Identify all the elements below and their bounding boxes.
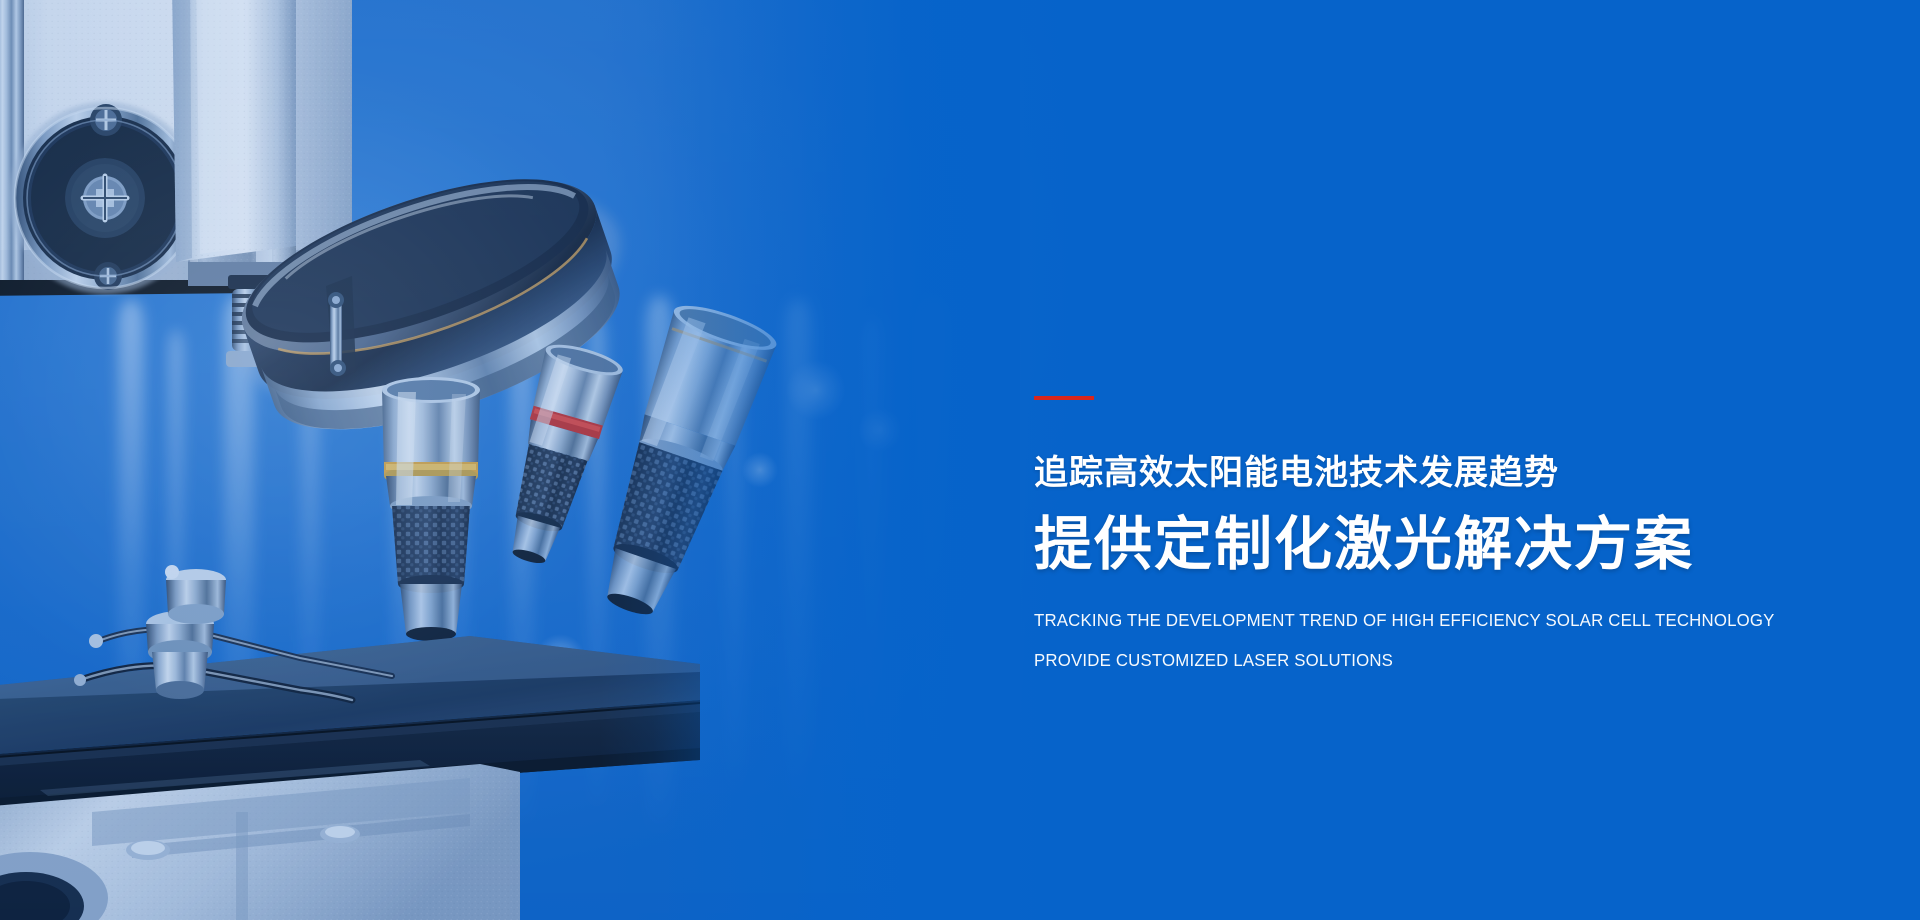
hero-copy: 追踪高效太阳能电池技术发展趋势 提供定制化激光解决方案 TRACKING THE… (1034, 396, 1854, 669)
headline-chinese-large: 提供定制化激光解决方案 (1034, 516, 1854, 574)
headline-chinese-small: 追踪高效太阳能电池技术发展趋势 (1034, 456, 1854, 490)
subheadline-english-line-1: TRACKING THE DEVELOPMENT TREND OF HIGH E… (1034, 612, 1821, 630)
subheadline-english-line-2: PROVIDE CUSTOMIZED LASER SOLUTIONS (1034, 652, 1821, 670)
accent-divider (1034, 396, 1094, 400)
hero-banner: 追踪高效太阳能电池技术发展趋势 提供定制化激光解决方案 TRACKING THE… (0, 0, 1920, 920)
